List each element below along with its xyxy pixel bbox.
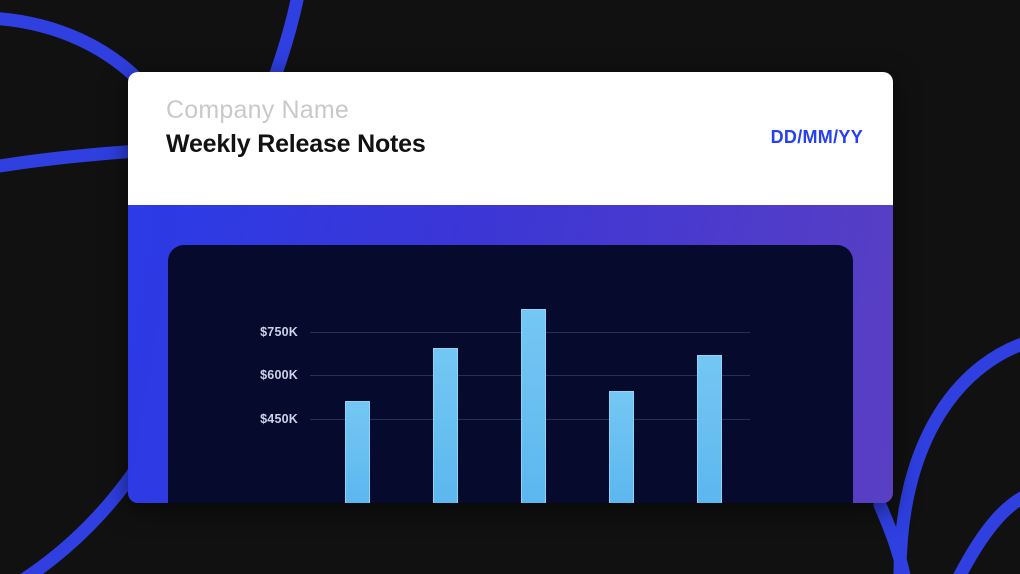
chart-panel: $750K$600K$450K [168, 245, 853, 503]
decor-right-arc-outer [900, 340, 1020, 574]
date-label: DD/MM/YY [771, 127, 863, 148]
y-axis-tick-label: $750K [188, 325, 298, 339]
card-body-band: $750K$600K$450K [128, 205, 893, 503]
y-axis-tick-label: $450K [188, 412, 298, 426]
decor-right-arc-inner [955, 492, 1020, 574]
bar[interactable] [433, 348, 458, 503]
bar-chart: $750K$600K$450K [168, 245, 853, 503]
company-name: Company Name [166, 96, 349, 125]
release-notes-card: Company Name Weekly Release Notes DD/MM/… [128, 72, 893, 503]
card-header: Company Name Weekly Release Notes DD/MM/… [128, 72, 893, 205]
page-title: Weekly Release Notes [166, 130, 426, 159]
bar[interactable] [345, 401, 370, 503]
bar[interactable] [609, 391, 634, 503]
y-axis-tick-label: $600K [188, 368, 298, 382]
bar[interactable] [697, 355, 722, 503]
bar[interactable] [521, 309, 546, 503]
